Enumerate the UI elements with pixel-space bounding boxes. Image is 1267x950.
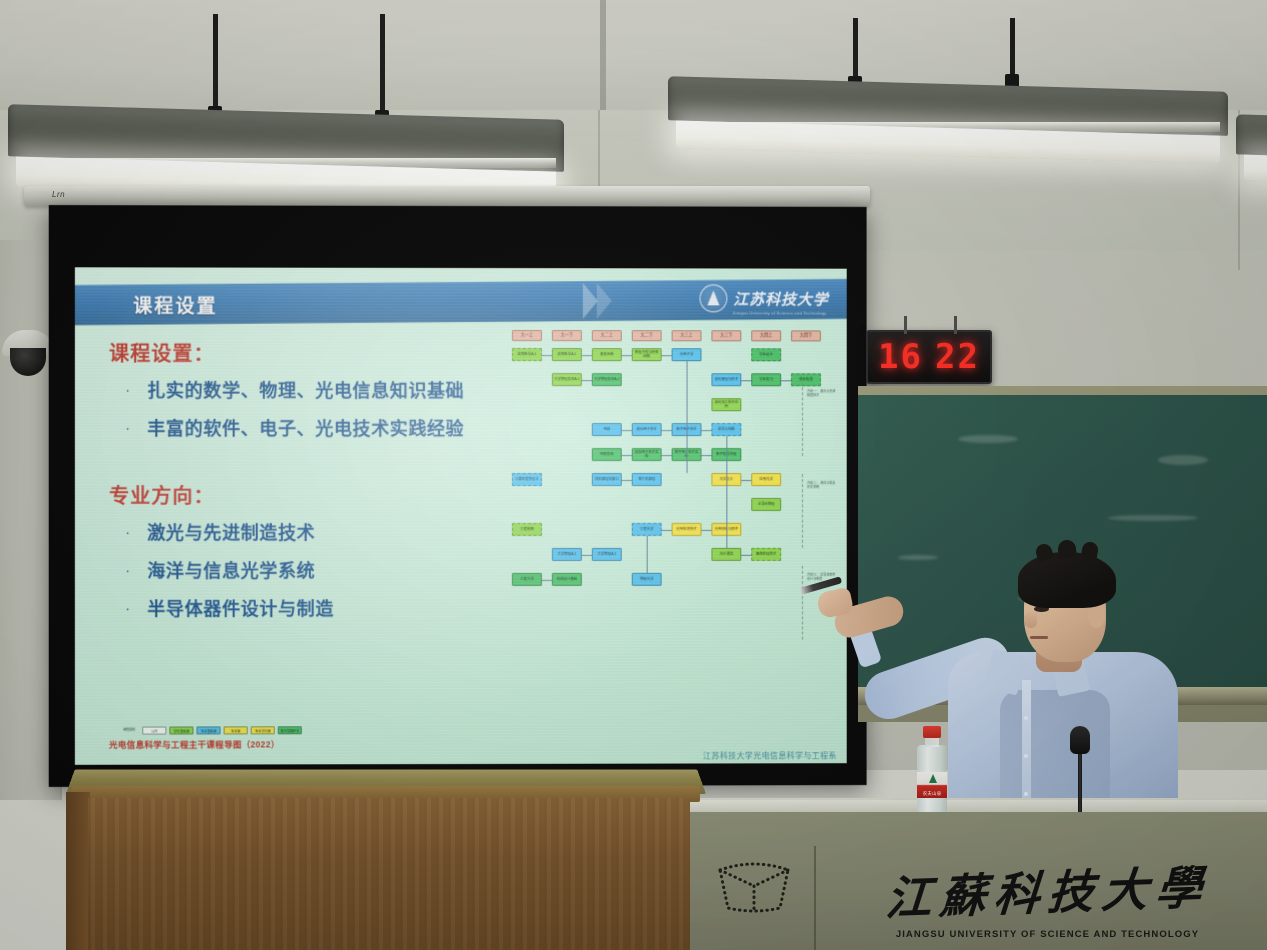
flowchart-connector [701, 529, 711, 530]
flowchart-connector [741, 554, 751, 555]
section-heading-courses: 课程设置： [109, 338, 540, 368]
lecture-hall-photo: Lrn 课程设置 江苏科技大学 Jiangsu University of Sc… [0, 0, 1267, 950]
flowchart-annotation: 方向一： 激光与先进制造技术 [807, 390, 837, 398]
semester-header: 大四下 [791, 330, 821, 341]
flowchart-connector [662, 529, 672, 530]
lectern-brand-cn: 江蘇科技大學 [883, 851, 1211, 929]
legend-swatch: 公共 [142, 727, 166, 735]
flowchart-connector [582, 554, 592, 555]
flowchart-connector [701, 455, 711, 456]
flowchart-node: 毕业设计 [751, 348, 781, 361]
chevron-right-icon [597, 283, 612, 319]
flowchart-node: 半导体物理 [751, 498, 781, 511]
section-spacer [109, 456, 540, 480]
flowchart-connector [662, 455, 672, 456]
bullet-item: · 丰富的软件、电子、光电技术实践经验 [125, 418, 540, 440]
presenter-ear [1088, 604, 1105, 628]
legend-swatch: 专业基础课 [196, 726, 220, 734]
university-logo: 江苏科技大学 [699, 284, 828, 312]
presenter-nose [1024, 612, 1037, 628]
flowchart-node: 毕业实习 [751, 373, 781, 386]
lectern-divider [814, 846, 816, 950]
flowchart-node: 光电检测技术 [672, 523, 702, 536]
chalk-smudge [1108, 515, 1198, 521]
university-name-cn: 江苏科技大学 [733, 288, 829, 309]
bullet-item: · 扎实的数学、物理、光电信息知识基础 [125, 380, 540, 402]
legend-swatch: 学科基础课 [169, 726, 193, 734]
ceiling-seam [600, 0, 606, 120]
flowchart-annotation-brace [802, 566, 803, 640]
bullet-text: 扎实的数学、物理、光电信息知识基础 [147, 380, 464, 402]
legend-swatch: 专业课 [224, 726, 248, 734]
legend-swatch: 专业方向课 [251, 726, 275, 734]
ceiling-light-fixture-1 [8, 14, 564, 124]
flowchart-connector [687, 361, 688, 473]
presenter-hair [1018, 552, 1116, 608]
flowchart-node: 大学物理A-1 [552, 548, 582, 561]
flowchart-connector [726, 436, 727, 548]
flowchart-node: 电路实验 [592, 448, 622, 461]
bullet-marker: · [125, 380, 147, 401]
flowchart-node: 物理光学 [632, 573, 662, 586]
flowchart-node: 模拟电子技术 [632, 423, 662, 436]
university-seal-icon [699, 284, 727, 312]
flowchart-node: 电路 [592, 423, 622, 436]
flowchart-annotation-brace [802, 474, 803, 548]
flowchart-connector [622, 480, 632, 481]
flowchart-node: 机械设计基础 [552, 573, 582, 586]
flowchart-node: 工程力学 [512, 573, 542, 586]
section-heading-directions: 专业方向： [109, 480, 540, 509]
flowchart-node: 复变函数 [592, 348, 622, 361]
tree-icon [929, 774, 937, 783]
water-bottle: 农夫山泉 [915, 726, 949, 812]
bottle-cap [923, 726, 941, 738]
shirt-button [1024, 754, 1028, 758]
security-camera [2, 330, 54, 388]
bullet-text: 激光与先进制造技术 [147, 522, 315, 544]
legend-swatch: 集中实践环节 [278, 726, 302, 734]
flowchart-annotation: 方向二： 海洋与信息光学系统 [807, 482, 837, 490]
wooden-desk-front [88, 798, 690, 950]
shirt-button [1024, 716, 1028, 720]
flowchart-connector [622, 455, 632, 456]
flowchart-node: 大学物理A-2 [592, 548, 622, 561]
semester-header: 大三下 [711, 330, 741, 341]
bullet-marker: · [125, 522, 147, 543]
presenter-mouth [1030, 636, 1048, 639]
flowchart-node: 图像处理技术 [751, 548, 781, 561]
light-cord [853, 18, 858, 80]
projection-screen-housing: Lrn [24, 186, 870, 206]
flowchart-node: 光纤通信 [711, 548, 741, 561]
hair-spike [1081, 541, 1100, 560]
flowchart-node: 光电子学 [672, 348, 702, 361]
semester-header: 大二上 [592, 330, 622, 341]
light-cord [380, 14, 385, 114]
ceiling-light-fixture-2 [668, 18, 1228, 128]
flowchart-annotation-brace [802, 382, 803, 456]
wooden-desk-side [66, 792, 90, 950]
flowchart-connector [701, 430, 711, 431]
flowchart-node: 微机原理及接口 [592, 473, 622, 486]
flowchart-node: 激光原理与技术 [711, 373, 741, 386]
bottle-label: 农夫山泉 [917, 772, 947, 798]
flowchart-node: 激光加工技术应用 [711, 398, 741, 411]
flowchart-connector [582, 355, 592, 356]
bullet-marker: · [125, 418, 147, 439]
semester-header: 大四上 [751, 330, 781, 341]
bullet-marker: · [125, 560, 147, 581]
flowchart-node: 大学物理实验A-2 [592, 373, 622, 386]
flowchart-node: 工程制图 [512, 523, 542, 536]
flowchart-connector [741, 480, 751, 481]
slide-body: 课程设置： · 扎实的数学、物理、光电信息知识基础 · 丰富的软件、电子、光电技… [109, 338, 540, 637]
microphone-stem [1078, 750, 1082, 812]
flowchart-node: 工程光学 [632, 523, 662, 536]
bullet-text: 半导体器件设计与制造 [147, 598, 334, 620]
chevron-right-icon [583, 283, 598, 319]
semester-header: 大三上 [672, 330, 702, 341]
flowchart-connector [662, 355, 672, 356]
flowchart-node: 计算机程序设计 [512, 473, 542, 486]
camera-dome-icon [10, 348, 46, 376]
chalk-smudge [1158, 455, 1208, 465]
flowchart-connector [622, 430, 632, 431]
bullet-item: · 海洋与信息光学系统 [125, 560, 540, 582]
clock-hours: 16 [878, 337, 923, 377]
projection-screen: 课程设置 江苏科技大学 Jiangsu University of Scienc… [49, 205, 867, 787]
flowchart-connector [582, 380, 592, 381]
bullet-item: · 半导体器件设计与制造 [125, 598, 540, 620]
flowchart-connector [741, 380, 751, 381]
flowchart-node: 大学物理实验A-1 [552, 373, 582, 386]
ceiling-light-fixture-3 [1236, 74, 1267, 164]
flowchart-connector [542, 579, 552, 580]
flowchart-node: 高等数学A-1 [512, 348, 542, 361]
flowchart-node: 单片机原理 [632, 473, 662, 486]
digital-clock: 16 22 [866, 330, 992, 384]
hair-spike [1057, 539, 1077, 559]
flowchart-caption: 光电信息科学与工程主干课程导图（2022） [109, 738, 279, 750]
slide-header-bar: 课程设置 江苏科技大学 Jiangsu University of Scienc… [75, 279, 847, 325]
fluorescent-tube [1244, 155, 1267, 184]
speaker-grille-emblem-icon [706, 852, 802, 918]
semester-header-row: 大一上大一下大二上大二下大三上大三下大四上大四下 [508, 330, 837, 344]
screen-housing-label: Lrn [52, 190, 65, 199]
bullet-text: 丰富的软件、电子、光电技术实践经验 [147, 418, 464, 440]
flowchart-connector [647, 536, 648, 573]
chalk-smudge [958, 435, 1018, 443]
light-hood [1236, 114, 1267, 157]
flowchart-node: 模拟电子技术实验 [632, 448, 662, 461]
lectern-brand-en: JIANGSU UNIVERSITY OF SCIENCE AND TECHNO… [896, 929, 1199, 940]
clock-bracket [904, 316, 907, 334]
clock-minutes: 22 [935, 337, 980, 377]
presenter [840, 540, 1240, 840]
flowchart-node: 就业指导 [791, 373, 821, 386]
semester-header: 大一下 [552, 330, 582, 341]
bullet-marker: · [125, 598, 147, 619]
clock-bracket [954, 316, 957, 334]
university-name-en: Jiangsu University of Science and Techno… [733, 310, 827, 315]
flowchart-node: 信号与系统 [711, 423, 741, 436]
light-cord [1010, 18, 1015, 78]
flowchart-node: 高等数学A-2 [552, 348, 582, 361]
wood-grain [88, 798, 690, 950]
legend-label: 课程类别 [123, 729, 139, 732]
lectern-brand: 江蘇科技大學 JIANGSU UNIVERSITY OF SCIENCE AND… [828, 846, 1267, 950]
flowchart-node: 数理方程与特殊函数 [632, 348, 662, 361]
bullet-text: 海洋与信息光学系统 [147, 560, 315, 582]
flowchart-connector [622, 355, 632, 356]
flowchart-node: 应用光学 [751, 473, 781, 486]
microphone-head [1070, 726, 1090, 754]
bullet-item: · 激光与先进制造技术 [125, 522, 540, 544]
shirt-button [1024, 792, 1028, 796]
flowchart-connector [781, 380, 791, 381]
bottle-label-text: 农夫山泉 [917, 791, 947, 797]
bottle-neck [925, 737, 939, 747]
light-cord [213, 14, 218, 110]
curriculum-flowchart: 大一上大一下大二上大二下大三上大三下大四上大四下 高等数学A-1高等数学A-2复… [508, 330, 837, 750]
flowchart-footer: 江苏科技大学光电信息科学与工程系 [703, 750, 837, 761]
flowchart-connector [542, 355, 552, 356]
semester-header: 大一上 [512, 330, 542, 341]
presentation-slide: 课程设置 江苏科技大学 Jiangsu University of Scienc… [75, 267, 847, 765]
slide-title: 课程设置 [133, 291, 217, 318]
flowchart-connector [662, 430, 672, 431]
semester-header: 大二下 [632, 330, 662, 341]
flowchart-legend: 课程类别公共学科基础课专业基础课专业课专业方向课集中实践环节 [123, 726, 302, 734]
